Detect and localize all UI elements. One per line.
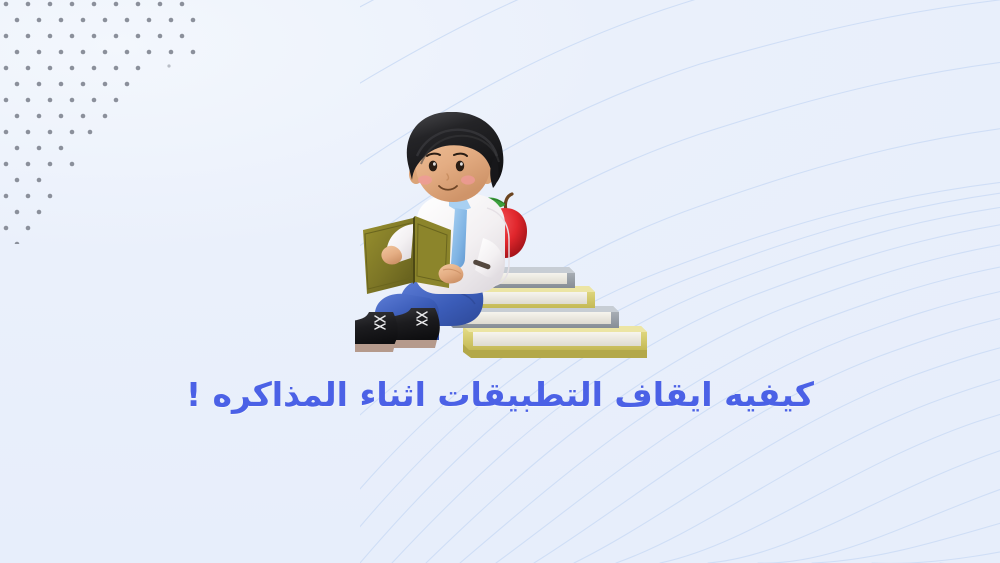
banner-headline: كيفيه ايقاف التطبيقات اثناء المذاكره ! xyxy=(0,374,1000,416)
banner-canvas: كيفيه ايقاف التطبيقات اثناء المذاكره ! xyxy=(0,0,1000,563)
head xyxy=(407,112,504,202)
boy-reading-illustration xyxy=(355,112,655,367)
